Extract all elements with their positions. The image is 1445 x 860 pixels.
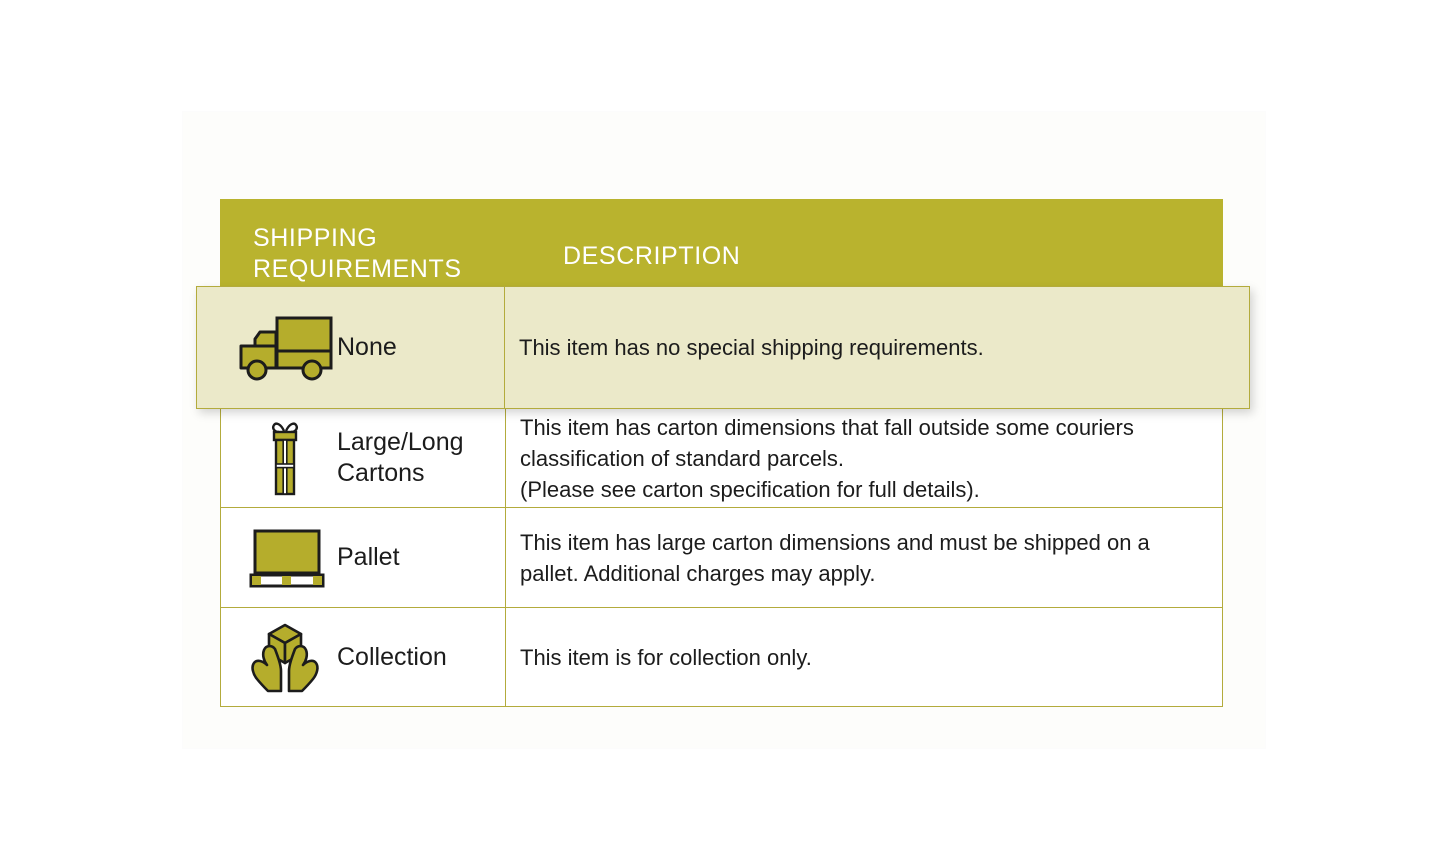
description-text: This item has carton dimensions that fal…: [520, 412, 1134, 505]
column-header-description: DESCRIPTION: [538, 199, 740, 272]
requirement-label: None: [337, 332, 397, 363]
description-line: This item has carton dimensions that fal…: [520, 412, 1134, 443]
table-row[interactable]: Collection This item is for collection o…: [221, 608, 1222, 706]
table-row-highlighted[interactable]: None This item has no special shipping r…: [196, 286, 1250, 409]
description-line: This item has large carton dimensions an…: [520, 527, 1150, 558]
cell-requirement: Pallet: [221, 508, 506, 607]
shipping-requirements-table: SHIPPING REQUIREMENTS DESCRIPTION: [220, 199, 1223, 707]
requirement-label: Pallet: [337, 542, 400, 573]
pallet-icon: [233, 527, 337, 589]
description-line: This item is for collection only.: [520, 642, 812, 673]
requirement-label: Large/Long Cartons: [337, 427, 505, 489]
cell-requirement: Large/Long Cartons: [221, 409, 506, 507]
description-line: This item has no special shipping requir…: [519, 332, 984, 363]
tall-gift-carton-icon: [233, 419, 337, 497]
requirement-label-line2: Cartons: [337, 459, 425, 487]
table-row[interactable]: Large/Long Cartons This item has carton …: [221, 409, 1222, 508]
delivery-truck-icon: [233, 315, 337, 381]
table-row[interactable]: Pallet This item has large carton dimens…: [221, 508, 1222, 608]
description-text: This item has no special shipping requir…: [519, 332, 984, 363]
cell-description: This item has no special shipping requir…: [505, 287, 1249, 408]
column-header-shipping-requirements-line2: REQUIREMENTS: [253, 254, 538, 285]
description-line: (Please see carton specification for ful…: [520, 474, 1134, 505]
column-header-shipping-requirements: SHIPPING REQUIREMENTS: [220, 199, 538, 285]
description-text: This item is for collection only.: [520, 642, 812, 673]
requirement-label-line1: Large/Long: [337, 428, 464, 456]
description-line: classification of standard parcels.: [520, 443, 1134, 474]
column-header-shipping-requirements-line1: SHIPPING: [253, 223, 538, 254]
cell-requirement: Collection: [221, 608, 506, 706]
description-line: pallet. Additional charges may apply.: [520, 558, 1150, 589]
cell-description: This item has carton dimensions that fal…: [506, 409, 1222, 507]
cell-description: This item has large carton dimensions an…: [506, 508, 1222, 607]
description-text: This item has large carton dimensions an…: [520, 527, 1150, 589]
hands-holding-box-icon: [233, 619, 337, 695]
cell-description: This item is for collection only.: [506, 608, 1222, 706]
requirement-label: Collection: [337, 642, 447, 673]
table-header-row: SHIPPING REQUIREMENTS DESCRIPTION: [220, 199, 1223, 287]
cell-requirement: None: [197, 287, 505, 408]
